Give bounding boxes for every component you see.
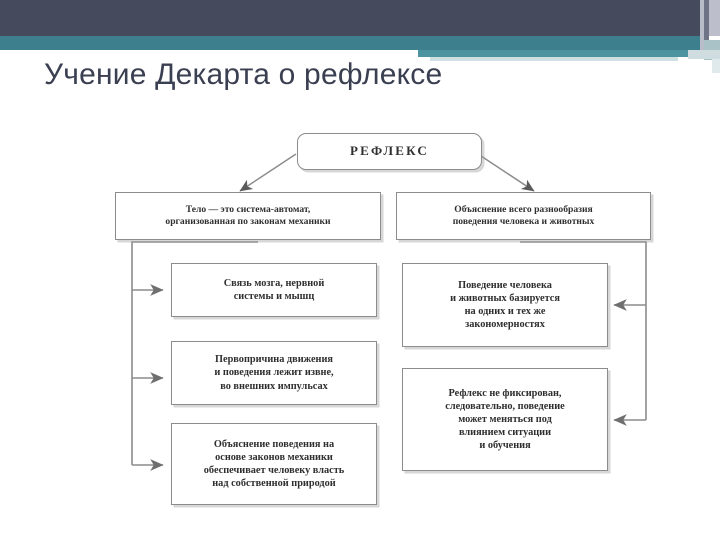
node-line: Тело — это система-автомат, <box>186 204 311 216</box>
node-line: Объяснение всего разнообразия <box>454 204 592 216</box>
node-power-over-nature[interactable]: Объяснение поведения на основе законов м… <box>171 423 377 505</box>
node-line: закономерностях <box>465 318 545 331</box>
header-edge-stripe-5 <box>688 50 720 59</box>
node-reflex-label: РЕФЛЕКС <box>350 143 429 160</box>
node-line: обеспечивает человеку власть <box>204 464 344 477</box>
node-line: системы и мышц <box>234 290 315 303</box>
node-line: основе законов механики <box>215 451 333 464</box>
node-line: может меняться под <box>458 413 552 426</box>
node-line: и обучения <box>479 439 530 452</box>
node-line: во внешних импульсах <box>220 380 328 393</box>
node-external-impulses[interactable]: Первопричина движения и поведения лежит … <box>171 341 377 405</box>
node-line: Объяснение поведения на <box>214 438 334 451</box>
node-line: поведения человека и животных <box>453 216 595 228</box>
node-reflex[interactable]: РЕФЛЕКС <box>297 133 482 170</box>
header-edge-stripe-6 <box>712 59 720 73</box>
node-line: над собственной природой <box>212 477 335 490</box>
node-line: влиянием ситуации <box>459 426 551 439</box>
node-line: на одних и тех же <box>465 305 546 318</box>
node-line: организованная по законам механики <box>165 216 330 228</box>
header-dark-bar <box>0 0 700 36</box>
node-line: Рефлекс не фиксирован, <box>448 387 561 400</box>
node-reflex-not-fixed[interactable]: Рефлекс не фиксирован, следовательно, по… <box>402 368 608 471</box>
node-line: Поведение человека <box>458 279 552 292</box>
header-accent-bar <box>418 50 688 57</box>
slide-canvas: Учение Декарта о рефлексе <box>0 0 720 540</box>
node-line: Первопричина движения <box>215 353 333 366</box>
node-brain-nerve-muscle[interactable]: Связь мозга, нервной системы и мышц <box>171 263 377 317</box>
node-same-laws[interactable]: Поведение человека и животных базируется… <box>402 263 608 347</box>
node-line: и поведения лежит извне, <box>214 366 333 379</box>
node-body-automaton[interactable]: Тело — это система-автомат, организованн… <box>115 192 381 240</box>
node-explains-variety[interactable]: Объяснение всего разнообразия поведения … <box>396 192 651 240</box>
reflex-flowchart: РЕФЛЕКС Тело — это система-автомат, орга… <box>0 120 720 540</box>
slide-title: Учение Декарта о рефлексе <box>44 58 664 92</box>
node-line: следовательно, поведение <box>445 400 564 413</box>
node-line: Связь мозга, нервной <box>224 277 325 290</box>
header-edge-stripe-3 <box>709 0 720 36</box>
node-line: и животных базируется <box>450 292 560 305</box>
header-teal-bar <box>0 36 700 50</box>
